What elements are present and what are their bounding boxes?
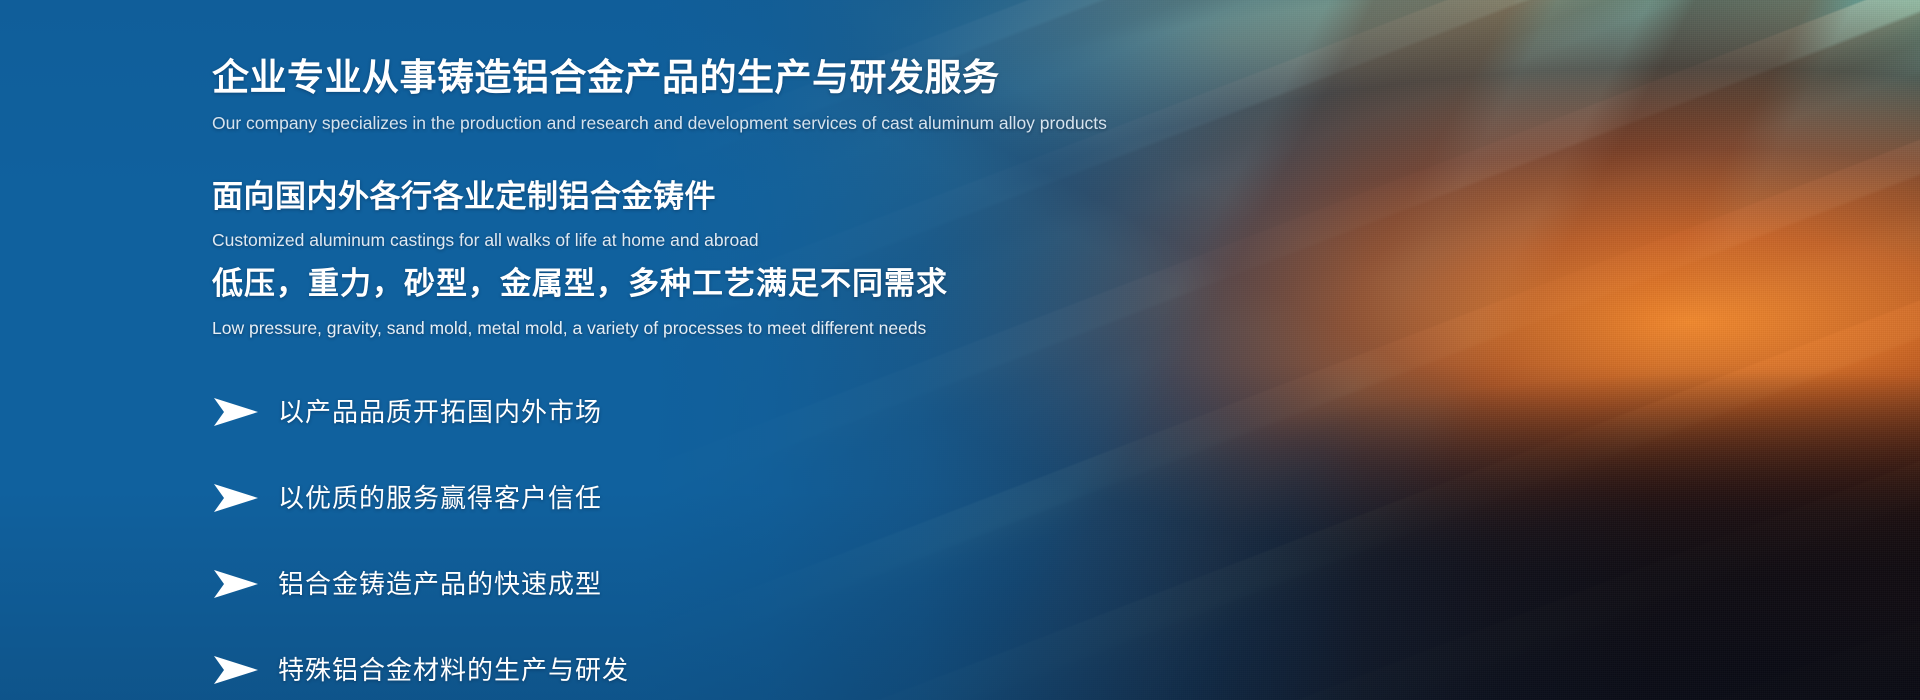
list-item: 以产品品质开拓国内外市场 <box>212 390 629 434</box>
arrow-right-icon <box>212 569 260 599</box>
list-item-label: 以优质的服务赢得客户信任 <box>278 483 602 513</box>
list-item: 以优质的服务赢得客户信任 <box>212 476 629 520</box>
heading-block-3: 低压，重力，砂型，金属型，多种工艺满足不同需求 Low pressure, gr… <box>212 262 948 341</box>
arrow-right-icon <box>212 655 260 685</box>
feature-bullet-list: 以产品品质开拓国内外市场 以优质的服务赢得客户信任 铝合金铸造产品的快速成型 <box>212 390 629 692</box>
heading-1-en: Our company specializes in the productio… <box>212 110 1107 136</box>
list-item-label: 铝合金铸造产品的快速成型 <box>278 569 602 599</box>
arrow-right-icon <box>212 483 260 513</box>
heading-block-2: 面向国内外各行各业定制铝合金铸件 Customized aluminum cas… <box>212 176 759 253</box>
banner-content: 企业专业从事铸造铝合金产品的生产与研发服务 Our company specia… <box>212 0 1712 700</box>
list-item-label: 以产品品质开拓国内外市场 <box>278 397 602 427</box>
heading-block-1: 企业专业从事铸造铝合金产品的生产与研发服务 Our company specia… <box>212 54 1107 136</box>
heading-3-cn: 低压，重力，砂型，金属型，多种工艺满足不同需求 <box>212 262 948 306</box>
list-item: 铝合金铸造产品的快速成型 <box>212 562 629 606</box>
arrow-right-icon <box>212 397 260 427</box>
heading-2-cn: 面向国内外各行各业定制铝合金铸件 <box>212 176 759 218</box>
list-item: 特殊铝合金材料的生产与研发 <box>212 648 629 692</box>
heading-1-cn: 企业专业从事铸造铝合金产品的生产与研发服务 <box>212 54 1107 102</box>
heading-3-en: Low pressure, gravity, sand mold, metal … <box>212 315 948 341</box>
list-item-label: 特殊铝合金材料的生产与研发 <box>278 655 629 685</box>
hero-banner: 企业专业从事铸造铝合金产品的生产与研发服务 Our company specia… <box>0 0 1920 700</box>
heading-2-en: Customized aluminum castings for all wal… <box>212 227 759 253</box>
